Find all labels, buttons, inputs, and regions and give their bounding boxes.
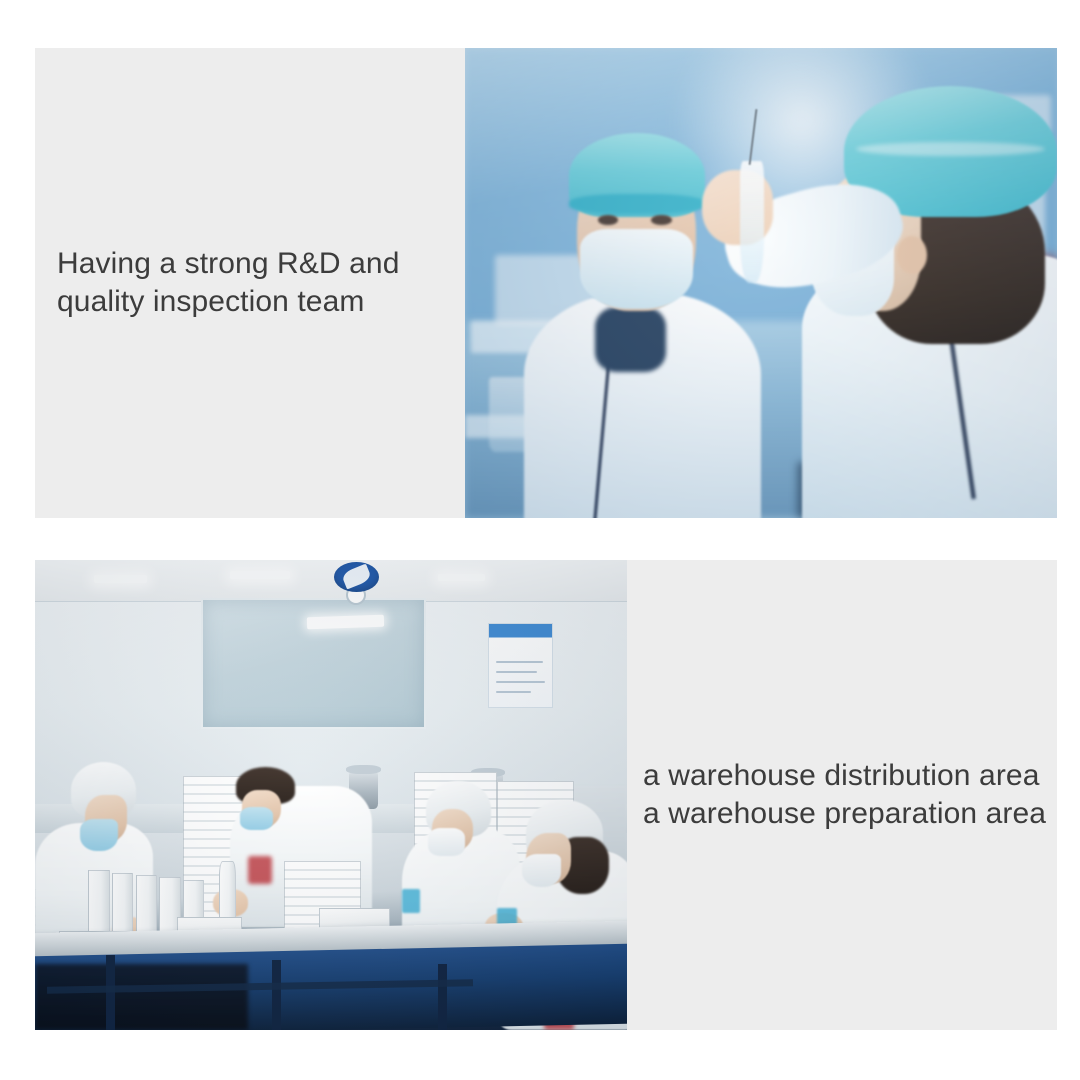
caption-panel-rd: Having a strong R&D and quality inspecti… [35, 48, 465, 518]
page-root: Having a strong R&D and quality inspecti… [0, 0, 1080, 1080]
lab-photo-vignette [465, 48, 1057, 518]
caption-line-warehouse-2: a warehouse preparation area [643, 795, 1047, 833]
warehouse-packing-area-photo [35, 560, 627, 1030]
caption-panel-warehouse: a warehouse distribution area a warehous… [627, 560, 1057, 1030]
caption-line-rd-2: quality inspection team [57, 283, 455, 321]
warehouse-photo-vignette [35, 560, 627, 1030]
caption-line-rd-1: Having a strong R&D and [57, 245, 455, 283]
section-warehouse: a warehouse distribution area a warehous… [35, 560, 1057, 1030]
section-rd-quality: Having a strong R&D and quality inspecti… [35, 48, 1057, 518]
caption-line-warehouse-1: a warehouse distribution area [643, 757, 1047, 795]
lab-rd-quality-inspection-photo [465, 48, 1057, 518]
